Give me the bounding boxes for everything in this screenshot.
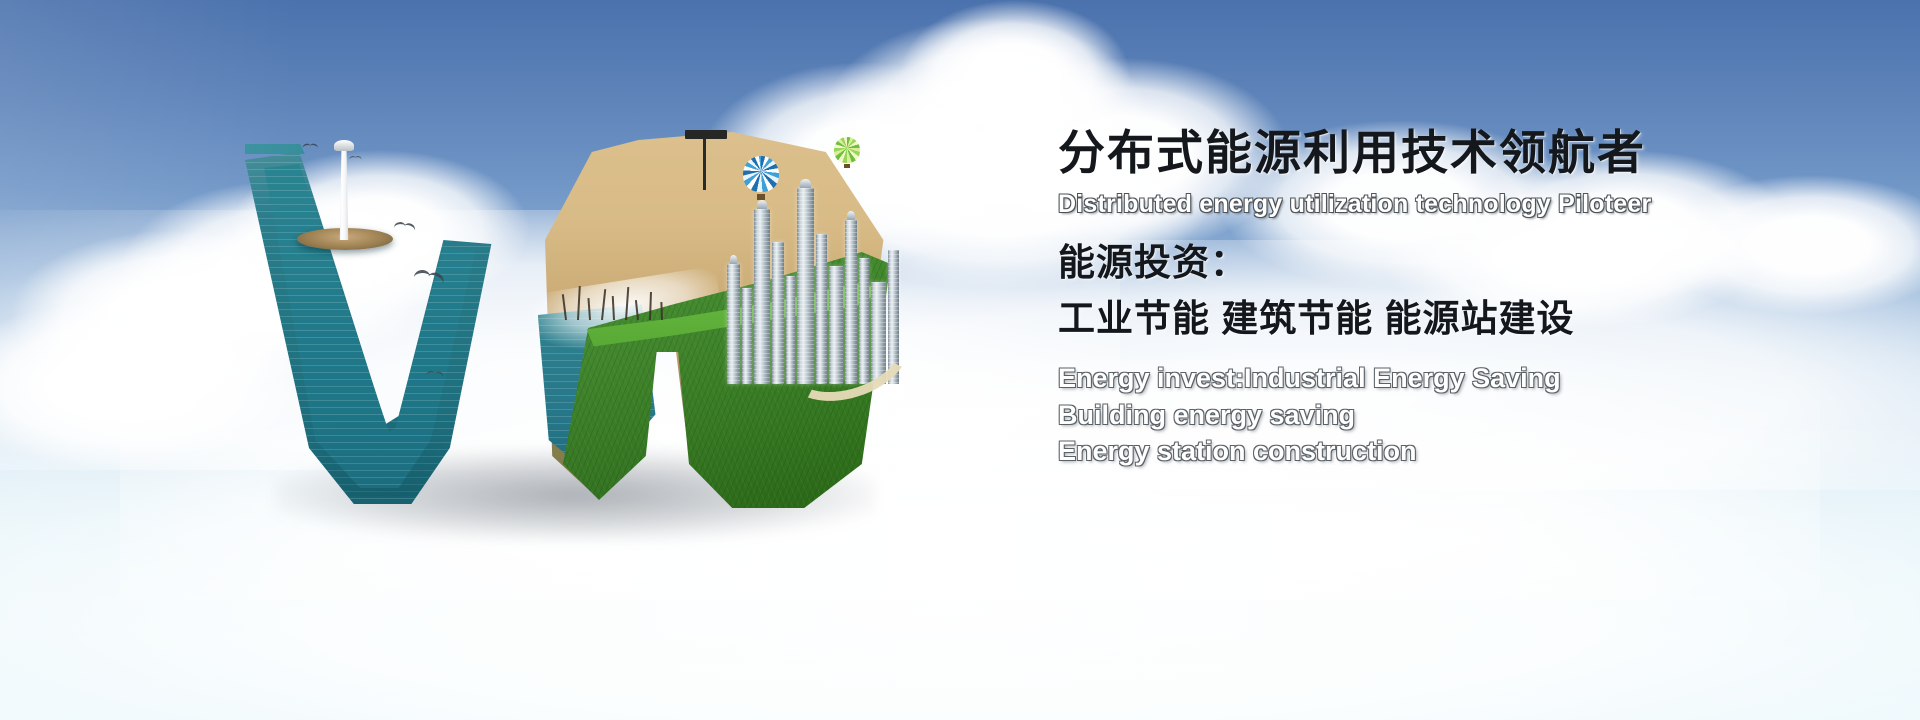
seagull-icon — [303, 141, 320, 149]
balloon-envelope — [834, 137, 860, 163]
services-english-item: Energy invest:Industrial Energy Saving — [1058, 360, 1858, 396]
services-english-item: Building energy saving — [1058, 397, 1858, 433]
lighthouse-lantern-icon — [334, 140, 354, 151]
land-letter-half — [545, 120, 905, 520]
seagull-icon — [394, 218, 418, 233]
ocean-inner-face — [245, 120, 565, 520]
headline-chinese: 分布式能源利用技术领航者 — [1058, 128, 1858, 177]
beach-fence-icon — [563, 268, 673, 320]
ocean-top-rim — [245, 144, 475, 154]
hero-banner: 分布式能源利用技术领航者 Distributed energy utilizat… — [0, 0, 1920, 720]
subtitle-english: Distributed energy utilization technolog… — [1058, 191, 1858, 219]
hot-air-balloon-blue-icon — [743, 156, 779, 202]
signpost-icon — [703, 134, 706, 190]
balloon-envelope — [743, 156, 779, 192]
banner-copy: 分布式能源利用技术领航者 Distributed energy utilizat… — [1058, 128, 1858, 469]
seagull-icon — [349, 154, 362, 161]
w-letter-artwork — [245, 120, 905, 520]
balloon-basket — [757, 194, 765, 200]
hot-air-balloon-green-icon — [834, 137, 860, 169]
services-chinese: 工业节能 建筑节能 能源站建设 — [1058, 297, 1858, 341]
balloon-basket — [844, 164, 850, 168]
services-english-list: Energy invest:Industrial Energy Saving B… — [1058, 360, 1858, 469]
ocean-letter-half — [245, 120, 565, 520]
lighthouse-icon — [337, 148, 351, 240]
water-ripples-texture — [245, 120, 565, 520]
services-english-item: Energy station construction — [1058, 433, 1858, 469]
section-label-chinese: 能源投资： — [1058, 241, 1858, 285]
